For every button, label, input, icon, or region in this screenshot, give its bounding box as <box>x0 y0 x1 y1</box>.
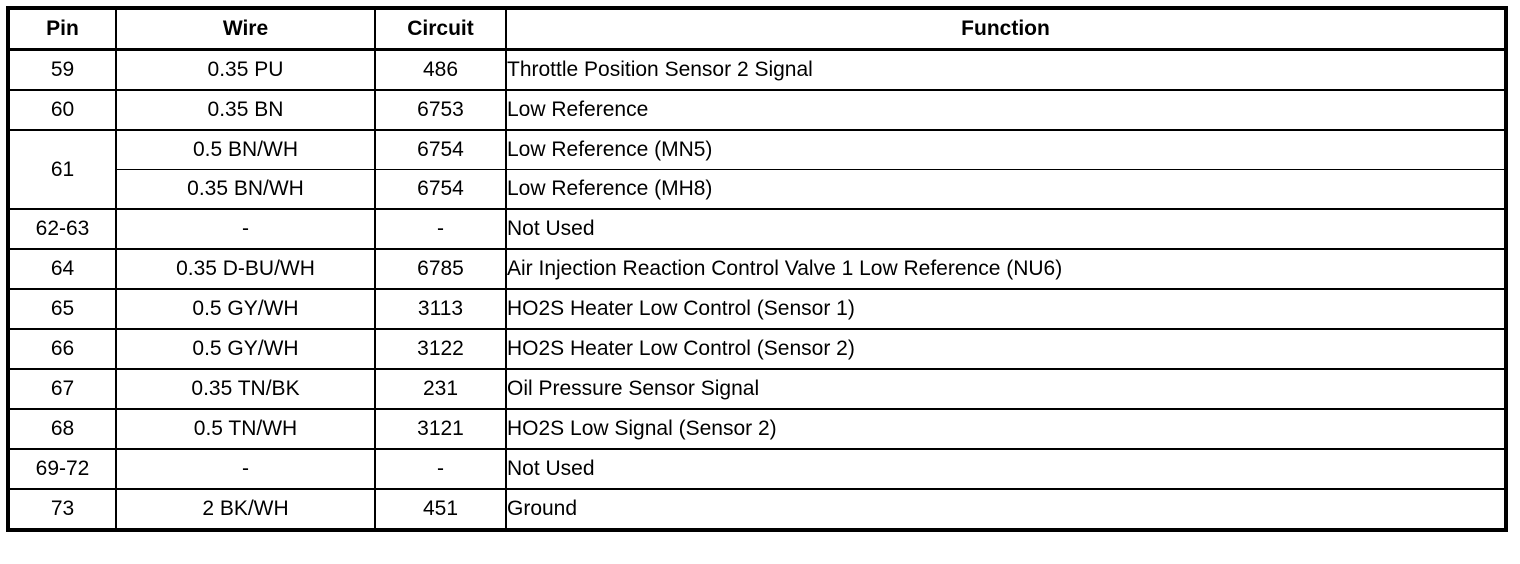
cell-circuit: 3122 <box>375 329 506 369</box>
cell-wire: 0.5 TN/WH <box>116 409 375 449</box>
cell-wire: 0.35 PU <box>116 50 375 91</box>
cell-circuit: 3121 <box>375 409 506 449</box>
cell-wire: 0.5 GY/WH <box>116 289 375 329</box>
cell-function: HO2S Low Signal (Sensor 2) <box>506 409 1506 449</box>
cell-pin: 68 <box>8 409 116 449</box>
cell-function: Oil Pressure Sensor Signal <box>506 369 1506 409</box>
table-row: 670.35 TN/BK231Oil Pressure Sensor Signa… <box>8 369 1506 409</box>
column-header-function: Function <box>506 8 1506 50</box>
table-row: 590.35 PU486Throttle Position Sensor 2 S… <box>8 50 1506 91</box>
cell-circuit: - <box>375 209 506 249</box>
cell-pin: 69-72 <box>8 449 116 489</box>
table-header: Pin Wire Circuit Function <box>8 8 1506 50</box>
cell-pin: 73 <box>8 489 116 530</box>
table-row: 610.5 BN/WH6754Low Reference (MN5) <box>8 130 1506 170</box>
cell-pin: 66 <box>8 329 116 369</box>
column-header-pin: Pin <box>8 8 116 50</box>
table-row: 62-63--Not Used <box>8 209 1506 249</box>
cell-circuit: 3113 <box>375 289 506 329</box>
cell-circuit: 486 <box>375 50 506 91</box>
cell-circuit: 6785 <box>375 249 506 289</box>
cell-pin: 62-63 <box>8 209 116 249</box>
cell-wire: 0.35 BN <box>116 90 375 130</box>
header-row: Pin Wire Circuit Function <box>8 8 1506 50</box>
cell-wire: 0.35 TN/BK <box>116 369 375 409</box>
document-page: Pin Wire Circuit Function 590.35 PU486Th… <box>0 0 1520 564</box>
cell-circuit: 6753 <box>375 90 506 130</box>
table-row: 600.35 BN6753Low Reference <box>8 90 1506 130</box>
cell-function: Low Reference (MH8) <box>506 170 1506 210</box>
table-row: 680.5 TN/WH3121HO2S Low Signal (Sensor 2… <box>8 409 1506 449</box>
cell-function: Low Reference (MN5) <box>506 130 1506 170</box>
cell-wire: 0.35 D-BU/WH <box>116 249 375 289</box>
cell-circuit: 231 <box>375 369 506 409</box>
cell-circuit: - <box>375 449 506 489</box>
cell-function: HO2S Heater Low Control (Sensor 2) <box>506 329 1506 369</box>
cell-pin: 59 <box>8 50 116 91</box>
cell-pin: 67 <box>8 369 116 409</box>
table-body: 590.35 PU486Throttle Position Sensor 2 S… <box>8 50 1506 531</box>
cell-pin: 65 <box>8 289 116 329</box>
cell-wire: 0.5 BN/WH <box>116 130 375 170</box>
cell-pin: 60 <box>8 90 116 130</box>
table-row: 640.35 D-BU/WH6785Air Injection Reaction… <box>8 249 1506 289</box>
cell-function: HO2S Heater Low Control (Sensor 1) <box>506 289 1506 329</box>
cell-circuit: 451 <box>375 489 506 530</box>
table-row: 0.35 BN/WH6754Low Reference (MH8) <box>8 170 1506 210</box>
cell-function: Not Used <box>506 449 1506 489</box>
cell-circuit: 6754 <box>375 130 506 170</box>
column-header-wire: Wire <box>116 8 375 50</box>
cell-wire: 0.35 BN/WH <box>116 170 375 210</box>
column-header-circuit: Circuit <box>375 8 506 50</box>
table-row: 650.5 GY/WH3113HO2S Heater Low Control (… <box>8 289 1506 329</box>
table-row: 69-72--Not Used <box>8 449 1506 489</box>
cell-wire: - <box>116 209 375 249</box>
cell-function: Ground <box>506 489 1506 530</box>
cell-function: Low Reference <box>506 90 1506 130</box>
cell-pin: 61 <box>8 130 116 209</box>
cell-function: Not Used <box>506 209 1506 249</box>
cell-wire: - <box>116 449 375 489</box>
cell-wire: 0.5 GY/WH <box>116 329 375 369</box>
pinout-table: Pin Wire Circuit Function 590.35 PU486Th… <box>6 6 1508 532</box>
cell-wire: 2 BK/WH <box>116 489 375 530</box>
cell-pin: 64 <box>8 249 116 289</box>
table-row: 660.5 GY/WH3122HO2S Heater Low Control (… <box>8 329 1506 369</box>
cell-circuit: 6754 <box>375 170 506 210</box>
table-row: 732 BK/WH451Ground <box>8 489 1506 530</box>
cell-function: Throttle Position Sensor 2 Signal <box>506 50 1506 91</box>
cell-function: Air Injection Reaction Control Valve 1 L… <box>506 249 1506 289</box>
